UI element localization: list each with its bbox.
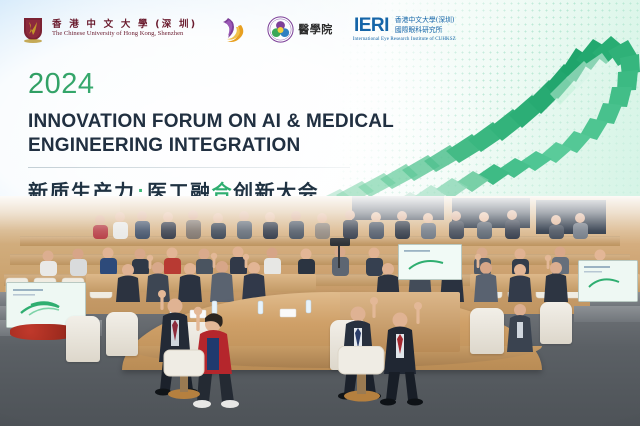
medicine-emblem-icon [267,16,294,43]
school-of-medicine-logo: 醫學院 [267,16,333,43]
title-divider [28,167,350,168]
cuhk-shenzhen-logo: 香 港 中 文 大 學 (深 圳) The Chinese University… [20,15,197,43]
cuhk-logo-en: The Chinese University of Hong Kong, She… [52,31,197,38]
podium-banner [398,244,462,280]
main-title: INNOVATION FORUM ON AI & MEDICAL ENGINEE… [28,110,428,158]
ieri-en-name: International Eye Research Institute of … [353,37,456,42]
conference-poster: 香 港 中 文 大 學 (深 圳) The Chinese University… [0,0,640,426]
logo-bar: 香 港 中 文 大 學 (深 圳) The Chinese University… [0,0,640,58]
year-label: 2024 [28,70,428,99]
photo-top-fade [0,196,640,244]
cuhk-logo-cn: 香 港 中 文 大 學 (深 圳) [52,20,197,30]
ieri-logo: IERI 香港中文大學(深圳) 國際眼科研究所 International Ey… [353,16,456,42]
conference-hall-group-photo [0,196,640,426]
title-block: 2024 INNOVATION FORUM ON AI & MEDICAL EN… [28,70,428,205]
ieri-cn-line2: 國際眼科研究所 [395,26,455,35]
ieri-cn-line1: 香港中文大學(深圳) [395,16,455,25]
phoenix-icon [217,14,247,44]
phoenix-logo [217,14,247,44]
cuhk-crest-icon [20,15,46,43]
foreground-chairs [140,346,500,406]
main-title-line1: INNOVATION FORUM ON AI & MEDICAL [28,110,428,134]
main-title-line2: ENGINEERING INTEGRATION [28,134,428,158]
ieri-wordmark: IERI [354,16,389,35]
school-of-medicine-label: 醫學院 [298,21,333,37]
